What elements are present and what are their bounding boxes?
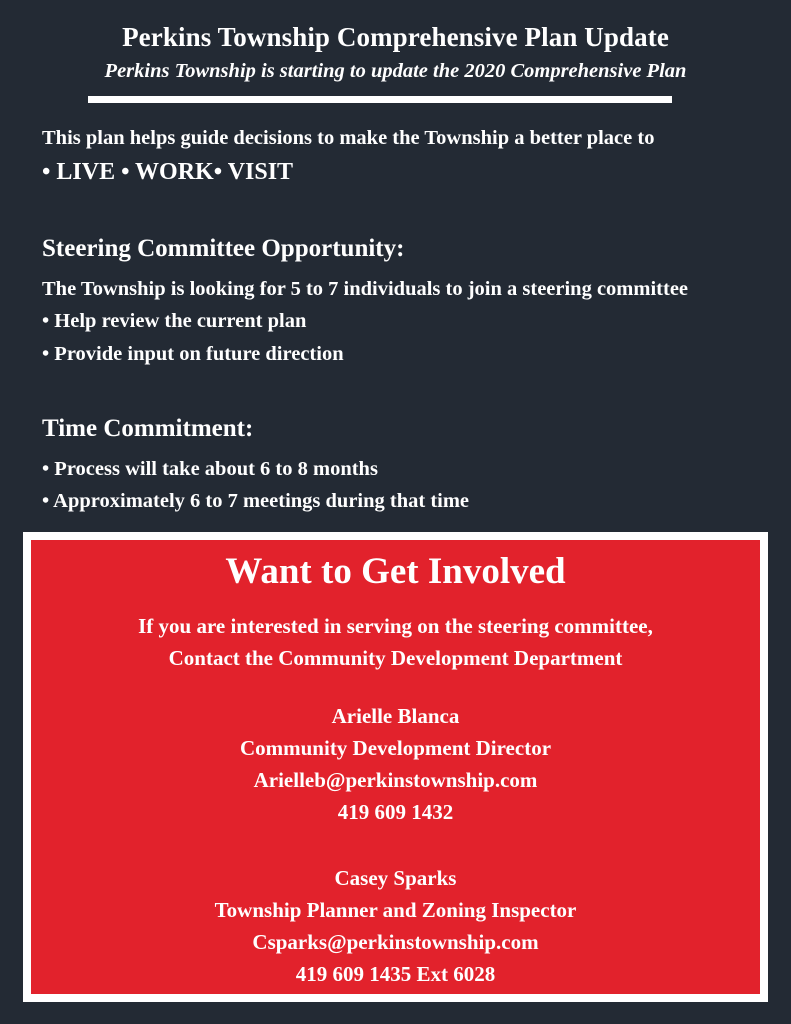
steering-committee-lead: The Township is looking for 5 to 7 indiv… bbox=[42, 273, 749, 305]
header-divider bbox=[88, 96, 672, 103]
intro-section: This plan helps guide decisions to make … bbox=[42, 122, 749, 190]
callout-inner: Want to Get Involved If you are interest… bbox=[31, 540, 760, 991]
time-commitment-bullet: • Approximately 6 to 7 meetings during t… bbox=[42, 485, 749, 517]
header-divider-wrap bbox=[0, 96, 791, 105]
time-commitment-section: Time Commitment: • Process will take abo… bbox=[42, 412, 749, 518]
spacer-after-intro bbox=[42, 190, 749, 232]
spacer-steering-heading bbox=[42, 266, 749, 273]
callout-title: Want to Get Involved bbox=[45, 548, 746, 594]
poster-flyer: Perkins Township Comprehensive Plan Upda… bbox=[0, 0, 791, 1024]
contact-email[interactable]: Arielleb@perkinstownship.com bbox=[45, 765, 746, 797]
contact-phone[interactable]: 419 609 1435 Ext 6028 bbox=[45, 959, 746, 991]
page-title: Perkins Township Comprehensive Plan Upda… bbox=[0, 22, 791, 53]
get-involved-callout: Want to Get Involved If you are interest… bbox=[23, 532, 768, 1002]
time-commitment-bullet: • Process will take about 6 to 8 months bbox=[42, 453, 749, 485]
contact-role: Township Planner and Zoning Inspector bbox=[45, 895, 746, 927]
steering-committee-bullet: • Help review the current plan bbox=[42, 305, 749, 337]
intro-line-2: • LIVE • WORK• VISIT bbox=[42, 154, 749, 190]
callout-lead: If you are interested in serving on the … bbox=[45, 611, 746, 674]
callout-lead-line-2: Contact the Community Development Depart… bbox=[45, 643, 746, 675]
contact-card: Casey Sparks Township Planner and Zoning… bbox=[45, 863, 746, 991]
steering-committee-heading: Steering Committee Opportunity: bbox=[42, 232, 749, 266]
steering-committee-bullet: • Provide input on future direction bbox=[42, 338, 749, 370]
callout-lead-line-1: If you are interested in serving on the … bbox=[45, 611, 746, 643]
steering-committee-section: Steering Committee Opportunity: The Town… bbox=[42, 232, 749, 370]
time-commitment-heading: Time Commitment: bbox=[42, 412, 749, 446]
contact-name: Casey Sparks bbox=[45, 863, 746, 895]
contact-card: Arielle Blanca Community Development Dir… bbox=[45, 701, 746, 829]
contact-phone[interactable]: 419 609 1432 bbox=[45, 797, 746, 829]
contact-role: Community Development Director bbox=[45, 733, 746, 765]
page-subtitle: Perkins Township is starting to update t… bbox=[0, 59, 791, 84]
spacer-after-steering bbox=[42, 370, 749, 412]
intro-line-1: This plan helps guide decisions to make … bbox=[42, 122, 749, 154]
poster-header: Perkins Township Comprehensive Plan Upda… bbox=[0, 0, 791, 105]
contact-name: Arielle Blanca bbox=[45, 701, 746, 733]
contact-email[interactable]: Csparks@perkinstownship.com bbox=[45, 927, 746, 959]
spacer-time-heading bbox=[42, 446, 749, 453]
poster-body: This plan helps guide decisions to make … bbox=[0, 122, 791, 518]
